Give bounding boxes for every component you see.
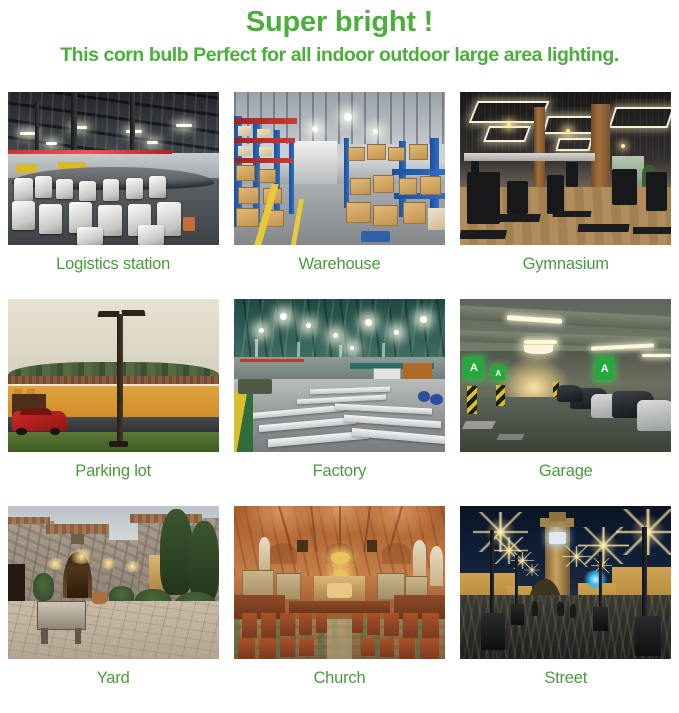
photo-church (234, 506, 445, 659)
scene-cell-warehouse: Warehouse (226, 92, 452, 299)
photo-factory (234, 299, 445, 452)
scene-cell-church: Church (226, 506, 452, 713)
garage-zone-sign-right: A (595, 357, 614, 380)
scene-cell-street: Street (453, 506, 679, 713)
caption-factory: Factory (313, 462, 367, 481)
photo-parking-lot (8, 299, 219, 452)
caption-street: Street (544, 669, 587, 688)
caption-gymnasium: Gymnasium (523, 255, 609, 274)
photo-logistics-station (8, 92, 219, 245)
photo-garage: A A A (460, 299, 671, 452)
scene-cell-parking-lot: Parking lot (0, 299, 226, 506)
scene-row: Yard (0, 506, 679, 713)
garage-zone-sign-left: A (464, 357, 483, 378)
caption-church: Church (313, 669, 365, 688)
photo-street (460, 506, 671, 659)
caption-warehouse: Warehouse (298, 255, 380, 274)
caption-parking-lot: Parking lot (75, 462, 151, 481)
scene-cell-factory: Factory (226, 299, 452, 506)
garage-zone-sign-mid: A (492, 366, 505, 380)
photo-warehouse (234, 92, 445, 245)
scene-row: Logistics station (0, 92, 679, 299)
scene-cell-yard: Yard (0, 506, 226, 713)
scene-cell-logistics-station: Logistics station (0, 92, 226, 299)
application-scene-grid: Logistics station (0, 92, 679, 713)
scene-cell-garage: A A A Garage (453, 299, 679, 506)
scene-row: Parking lot (0, 299, 679, 506)
caption-garage: Garage (539, 462, 593, 481)
subheadline: This corn bulb Perfect for all indoor ou… (0, 40, 679, 68)
headline: Super bright ! (0, 0, 679, 40)
photo-yard (8, 506, 219, 659)
caption-yard: Yard (97, 669, 130, 688)
scene-cell-gymnasium: Gymnasium (453, 92, 679, 299)
caption-logistics-station: Logistics station (56, 255, 170, 274)
photo-gymnasium (460, 92, 671, 245)
